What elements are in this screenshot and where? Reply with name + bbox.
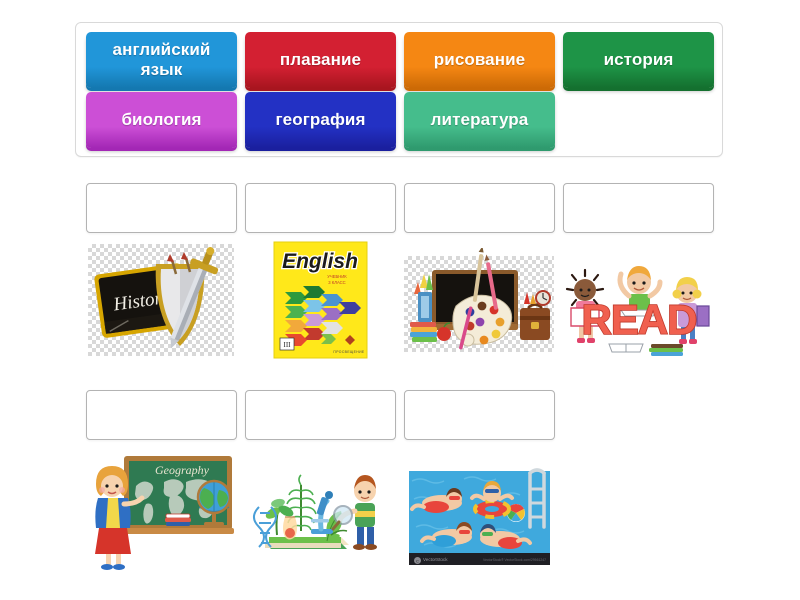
word-bank-empty-cell [563,92,714,148]
image-biology[interactable] [245,455,396,575]
image-geography[interactable]: Geography [86,450,237,570]
english-book-publisher: ПРОСВЕЩЕНИЕ [333,350,365,354]
word-bank-panel: английский язык плавание рисование истор… [75,22,723,157]
read-word-text: READ [581,296,696,343]
english-book-title: English [282,250,358,273]
word-tile-label: биология [121,110,201,130]
english-book-illustration: English УЧЕБНИК 3 КЛАСС III [245,240,396,360]
history-illustration: History [86,240,237,360]
answer-slot-3[interactable] [404,183,555,233]
word-tile-label: литература [431,110,529,130]
image-swimming-pool[interactable]: C VectorStock VectorStock® VectorStock.c… [404,465,555,585]
english-book-subtitle-2: 3 КЛАСС [328,280,345,285]
word-tile-english[interactable]: английский язык [86,32,237,88]
answer-slot-7[interactable] [404,390,555,440]
word-tile-swimming[interactable]: плавание [245,32,396,88]
word-tile-history[interactable]: история [563,32,714,88]
word-tile-label: география [276,110,366,130]
image-literature-read[interactable]: READ [563,248,714,368]
word-tile-geography[interactable]: география [245,92,396,148]
biology-illustration [245,455,396,575]
geography-illustration: Geography [86,450,237,570]
english-book-grade-badge: III [284,341,292,349]
word-tile-literature[interactable]: литература [404,92,555,148]
swimming-watermark: VectorStock [423,557,448,562]
word-bank-row-1: английский язык плавание рисование истор… [86,32,714,88]
word-tile-label: плавание [280,50,361,70]
word-tile-biology[interactable]: биология [86,92,237,148]
activity-page: английский язык плавание рисование истор… [0,0,800,600]
answer-slot-1[interactable] [86,183,237,233]
answer-slot-6[interactable] [245,390,396,440]
geography-board-text: Geography [155,463,210,477]
swimming-footer-text: VectorStock® VectorStock.com/29561247 [483,558,546,562]
word-bank-row-2: биология география литература [86,92,714,148]
english-book-subtitle-1: УЧЕБНИК [327,274,347,279]
word-tile-label: рисование [434,50,525,70]
word-tile-label: история [604,50,674,70]
swimming-illustration: C VectorStock VectorStock® VectorStock.c… [404,465,555,585]
answer-slot-4[interactable] [563,183,714,233]
read-illustration: READ [563,248,714,368]
drawing-illustration [404,248,555,368]
word-tile-drawing[interactable]: рисование [404,32,555,88]
answer-slot-2[interactable] [245,183,396,233]
word-tile-label: английский язык [92,40,231,79]
image-history[interactable]: History [86,240,237,360]
image-drawing-art-supplies[interactable] [404,248,555,368]
image-english-textbook[interactable]: English УЧЕБНИК 3 КЛАСС III [245,240,396,360]
svg-text:C: C [416,558,419,563]
answer-slot-5[interactable] [86,390,237,440]
